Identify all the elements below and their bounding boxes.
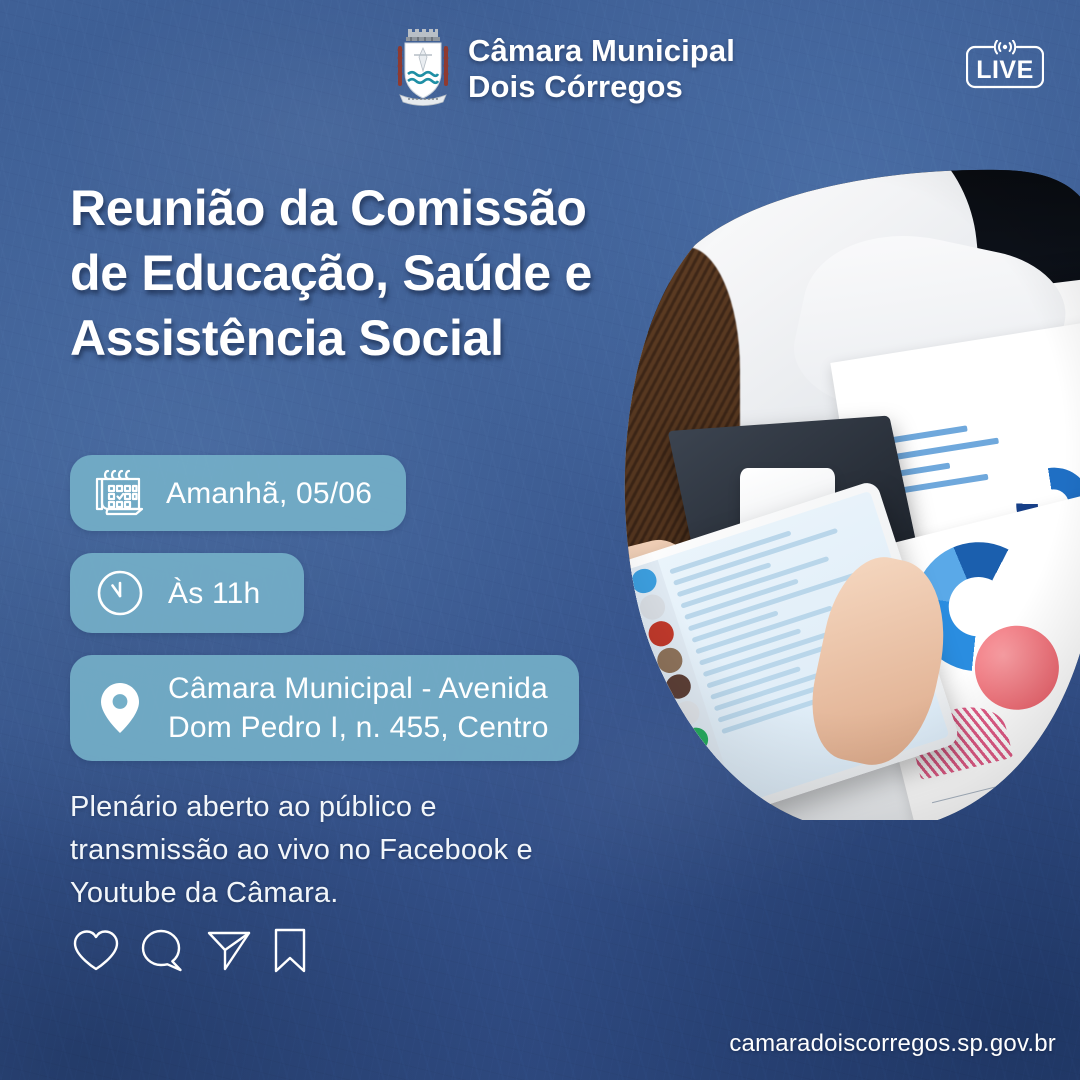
office-meeting-scene (600, 130, 1080, 820)
send-icon[interactable] (206, 929, 252, 973)
brand-line-1: Câmara Municipal (468, 33, 735, 69)
brand-line-2: Dois Córregos (468, 69, 735, 105)
event-date-text: Amanhã, 05/06 (166, 474, 372, 513)
note-line-3: Youtube da Câmara. (70, 872, 610, 915)
brand-lockup: Câmara Municipal Dois Córregos (392, 26, 735, 112)
page-title: Reunião da Comissão de Educação, Saúde e… (70, 176, 630, 371)
event-date-line-1: Amanhã, 05/06 (166, 474, 372, 513)
live-badge: LIVE (966, 40, 1044, 94)
headline-line-3: Assistência Social (70, 306, 630, 371)
bookmark-icon[interactable] (272, 928, 308, 974)
note-line-1: Plenário aberto ao público e (70, 786, 610, 829)
broadcast-note: Plenário aberto ao público e transmissão… (70, 786, 610, 915)
event-time-text: Às 11h (168, 574, 260, 613)
website-url[interactable]: camaradoiscorregos.sp.gov.br (729, 1030, 1056, 1058)
comment-icon[interactable] (140, 928, 186, 974)
event-time-chip: Às 11h (70, 553, 304, 633)
broadcast-signal-icon (995, 41, 1015, 54)
calendar-icon (90, 465, 146, 521)
note-line-2: transmissão ao vivo no Facebook e (70, 829, 610, 872)
event-location-line-2: Dom Pedro I, n. 455, Centro (168, 708, 549, 747)
event-details: Amanhã, 05/06 Às 11h Câmara Municipal - … (70, 455, 579, 783)
coat-of-arms-icon (392, 26, 454, 112)
live-label: LIVE (976, 56, 1034, 84)
heart-icon[interactable] (72, 929, 120, 973)
headline-line-1: Reunião da Comissão (70, 176, 630, 241)
event-location-line-1: Câmara Municipal - Avenida (168, 669, 549, 708)
event-time-line-1: Às 11h (168, 574, 260, 613)
event-location-chip: Câmara Municipal - Avenida Dom Pedro I, … (70, 655, 579, 761)
event-date-chip: Amanhã, 05/06 (70, 455, 406, 531)
event-location-text: Câmara Municipal - Avenida Dom Pedro I, … (168, 669, 549, 747)
social-actions (72, 928, 308, 974)
hero-photo (600, 130, 1080, 820)
headline-line-2: de Educação, Saúde e (70, 241, 630, 306)
clock-icon (92, 565, 148, 621)
location-pin-icon (92, 677, 148, 739)
brand-name: Câmara Municipal Dois Córregos (468, 33, 735, 105)
poster-canvas: Câmara Municipal Dois Córregos LIVE (0, 0, 1080, 1080)
